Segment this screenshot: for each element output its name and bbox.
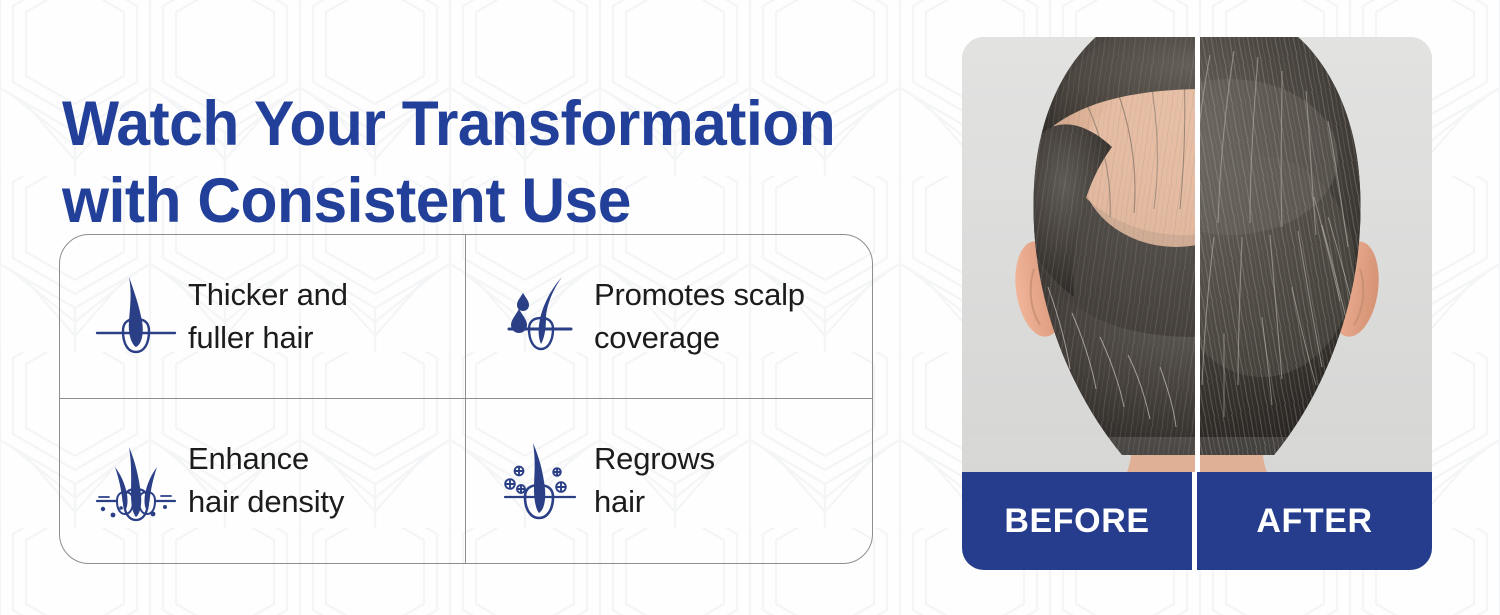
feature-item-thicker-fuller-hair: Thicker and fuller hair: [60, 235, 466, 399]
feature-item-enhance-hair-density: Enhance hair density: [60, 399, 466, 563]
feature-label: Enhance hair density: [188, 438, 344, 524]
feature-item-promotes-scalp-coverage: Promotes scalp coverage: [466, 235, 872, 399]
page-title: Watch Your Transformation with Consisten…: [62, 86, 888, 240]
before-label: BEFORE: [962, 472, 1197, 570]
before-after-panel: BEFORE AFTER: [962, 37, 1432, 570]
hair-follicle-icon: [90, 269, 182, 365]
after-label: AFTER: [1197, 472, 1432, 570]
promo-banner: Watch Your Transformation with Consisten…: [0, 0, 1500, 615]
before-after-divider: [1195, 37, 1200, 472]
feature-grid: Thicker and fuller hair: [59, 234, 873, 564]
feature-label: Regrows hair: [594, 438, 715, 524]
feature-label: Promotes scalp coverage: [594, 274, 805, 360]
multiple-hair-follicles-icon: [90, 433, 182, 529]
before-after-label-bar: BEFORE AFTER: [962, 472, 1432, 570]
hair-follicle-droplets-icon: [496, 269, 588, 365]
feature-item-regrows-hair: Regrows hair: [466, 399, 872, 563]
hair-follicle-nutrients-icon: [496, 433, 588, 529]
feature-label: Thicker and fuller hair: [188, 274, 348, 360]
